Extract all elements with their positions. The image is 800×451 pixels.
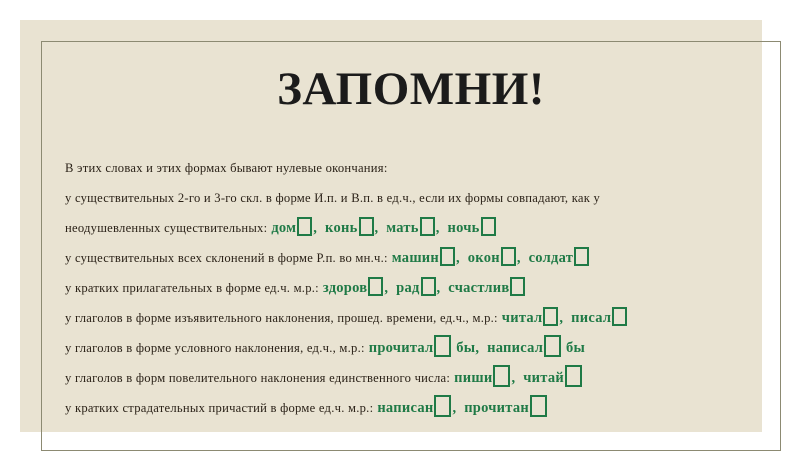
line-short-participles: у кратких страдательных причастий в форм… — [65, 393, 765, 423]
example-word: прочитан — [464, 400, 529, 416]
zero-ending-box — [574, 247, 589, 266]
rule-description: у глаголов в форм повелительного наклоне… — [65, 371, 450, 385]
zero-ending-box — [612, 307, 627, 326]
example-separator: , — [456, 250, 464, 266]
rule-description: у существительных 2-го и 3-го скл. в фор… — [65, 191, 600, 205]
example-word: читай — [523, 370, 564, 386]
example-separator: , — [517, 250, 525, 266]
example-word: написал — [487, 340, 543, 356]
example-word: писал — [571, 310, 611, 326]
line-nouns-2-3-decl: у существительных 2-го и 3-го скл. в фор… — [65, 183, 765, 213]
rule-line-list: у существительных 2-го и 3-го скл. в фор… — [65, 183, 765, 423]
zero-ending-box — [421, 277, 436, 296]
rule-description: неодушевленных существительных: — [65, 221, 267, 235]
zero-ending-box — [501, 247, 516, 266]
example-word: солдат — [529, 250, 573, 266]
zero-ending-box — [440, 247, 455, 266]
example-word: окон — [468, 250, 500, 266]
example-separator: , — [559, 310, 567, 326]
intro-line: В этих словах и этих формах бывают нулев… — [65, 153, 765, 183]
example-word: машин — [392, 250, 439, 266]
example-word: дом — [271, 220, 296, 236]
line-conditional-mood: у глаголов в форме условного наклонения,… — [65, 333, 765, 363]
example-separator: , — [313, 220, 321, 236]
example-word: здоров — [323, 280, 367, 296]
example-separator: , — [384, 280, 392, 296]
example-separator: , — [437, 280, 445, 296]
zero-ending-box — [434, 395, 451, 417]
zero-ending-box — [565, 365, 582, 387]
rule-description: у существительных всех склонений в форме… — [65, 251, 388, 265]
zero-ending-box — [420, 217, 435, 236]
example-separator: , — [375, 220, 383, 236]
zero-ending-box — [368, 277, 383, 296]
zero-ending-box — [530, 395, 547, 417]
example-separator: , — [452, 400, 460, 416]
example-word: ночь — [447, 220, 479, 236]
zero-ending-box — [481, 217, 496, 236]
content-body: В этих словах и этих формах бывают нулев… — [65, 153, 765, 423]
rule-description: у кратких страдательных причастий в форм… — [65, 401, 373, 415]
zero-ending-box — [493, 365, 510, 387]
line-genitive-plural: у существительных всех склонений в форме… — [65, 243, 765, 273]
example-word: прочитал — [369, 340, 434, 356]
zero-ending-box — [434, 335, 451, 357]
example-word: написан — [377, 400, 433, 416]
example-separator: бы — [562, 340, 585, 356]
example-word: рад — [396, 280, 419, 296]
zero-ending-box — [543, 307, 558, 326]
zero-ending-box — [544, 335, 561, 357]
example-word: счастлив — [448, 280, 509, 296]
example-word: конь — [325, 220, 357, 236]
rule-description: у кратких прилагательных в форме ед.ч. м… — [65, 281, 319, 295]
zero-ending-box — [297, 217, 312, 236]
zero-ending-box — [359, 217, 374, 236]
zero-ending-box — [510, 277, 525, 296]
line-imperative-mood: у глаголов в форм повелительного наклоне… — [65, 363, 765, 393]
rule-description: у глаголов в форме изъявительного наклон… — [65, 311, 498, 325]
line-short-adjectives: у кратких прилагательных в форме ед.ч. м… — [65, 273, 765, 303]
page-title: ЗАПОМНИ! — [41, 66, 781, 113]
example-word: мать — [386, 220, 418, 236]
example-word: читал — [502, 310, 543, 326]
line-inanimate-nouns: неодушевленных существительных:дом, конь… — [65, 213, 765, 243]
line-indicative-past: у глаголов в форме изъявительного наклон… — [65, 303, 765, 333]
slide-canvas: ЗАПОМНИ! В этих словах и этих формах быв… — [20, 20, 762, 432]
example-word: пиши — [454, 370, 492, 386]
example-separator: , — [511, 370, 519, 386]
rule-description: у глаголов в форме условного наклонения,… — [65, 341, 365, 355]
example-separator: бы, — [452, 340, 483, 356]
example-separator: , — [436, 220, 444, 236]
